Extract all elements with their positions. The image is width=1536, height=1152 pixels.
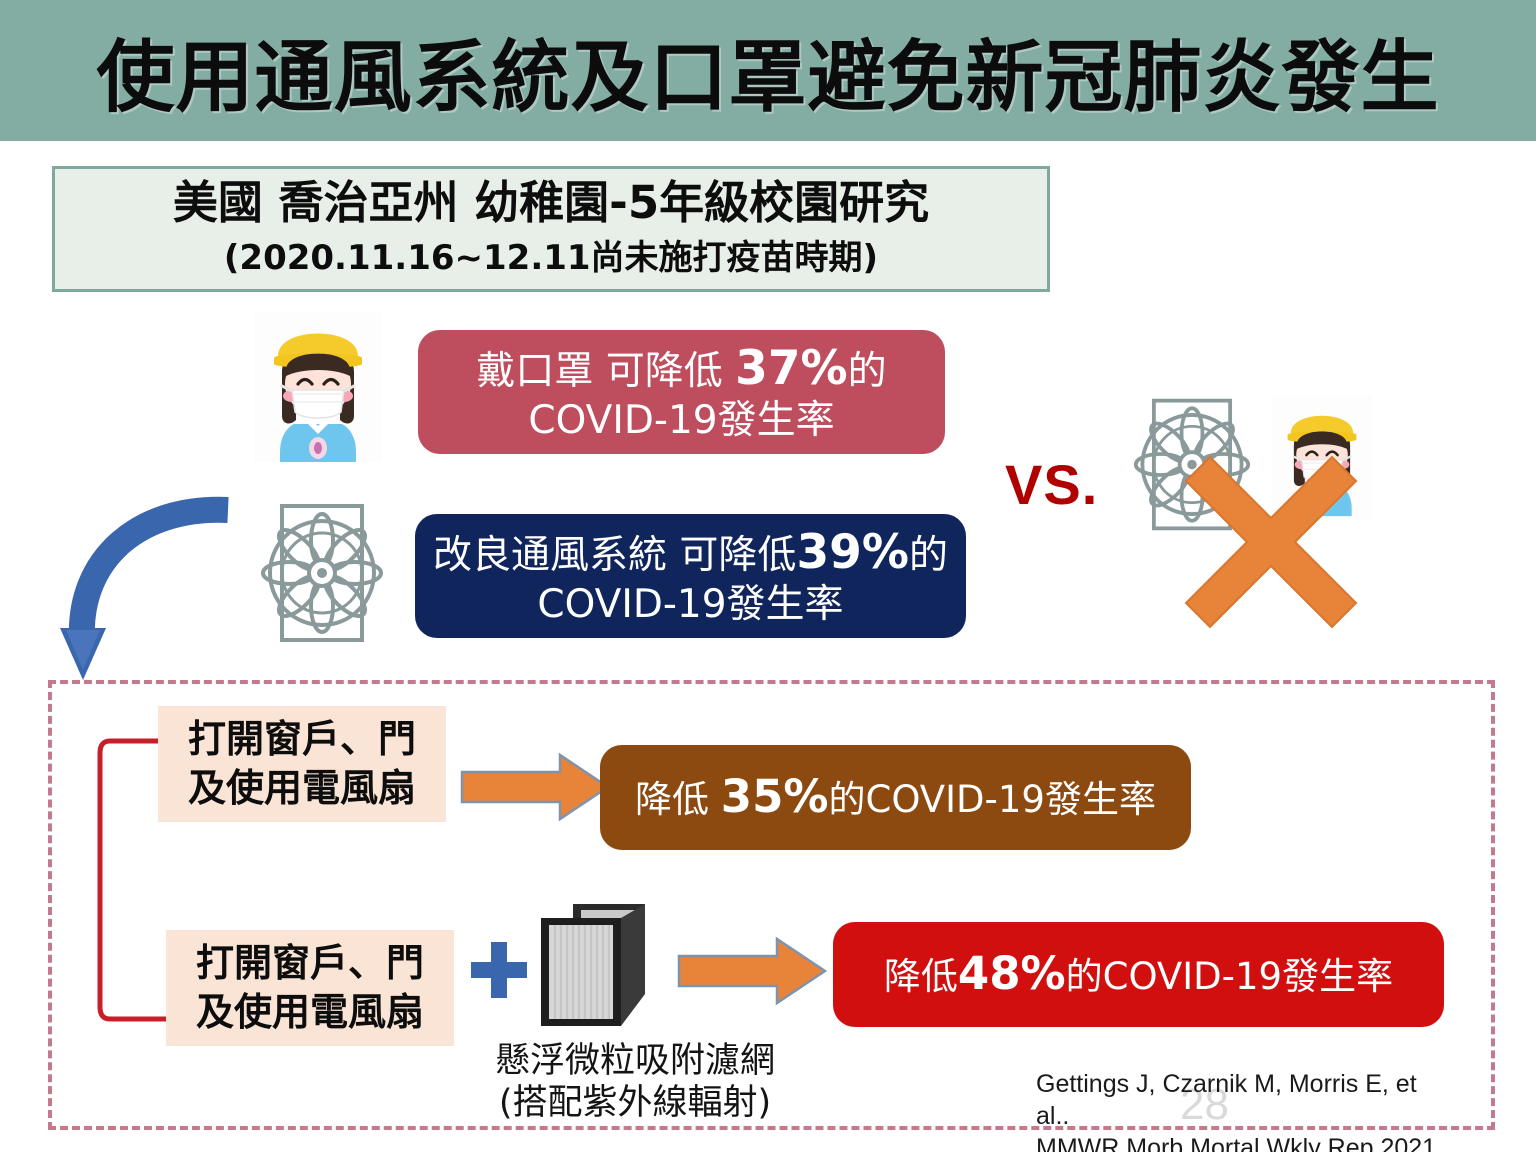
method-1-result-suffix: 的COVID-19發生率 bbox=[829, 778, 1156, 821]
method-2-result-suffix: 的COVID-19發生率 bbox=[1066, 955, 1393, 998]
vs-label: VS. bbox=[1005, 452, 1098, 517]
ventilation-statement-line2: COVID-19發生率 bbox=[537, 582, 843, 627]
masked-girl-icon bbox=[254, 312, 382, 462]
blue-curved-arrow-icon bbox=[60, 480, 300, 700]
mask-statement-prefix: 戴口罩 可降低 bbox=[476, 349, 735, 394]
filter-caption-line1: 懸浮微粒吸附濾網 bbox=[455, 1040, 815, 1082]
ventilation-statement-pill: 改良通風系統 可降低39%的 COVID-19發生率 bbox=[415, 514, 966, 638]
ventilation-statement-value: 39% bbox=[796, 525, 909, 580]
study-subtitle-main: 美國 喬治亞州 幼稚園-5年級校園研究 bbox=[173, 179, 929, 228]
filter-caption: 懸浮微粒吸附濾網 (搭配紫外線輻射) bbox=[455, 1040, 815, 1124]
mask-statement-pill: 戴口罩 可降低 37%的 COVID-19發生率 bbox=[418, 330, 945, 454]
method-2-result-value: 48% bbox=[958, 947, 1066, 1000]
mask-statement-suffix: 的 bbox=[848, 349, 887, 394]
page-title: 使用通風系統及口罩避免新冠肺炎發生 bbox=[0, 0, 1536, 141]
method-2-label-line1: 打開窗戶、門 bbox=[196, 939, 424, 988]
citation: Gettings J, Czarnik M, Morris E, et al..… bbox=[1036, 1068, 1456, 1152]
study-subtitle-box: 美國 喬治亞州 幼稚園-5年級校園研究 (2020.11.16~12.11尚未施… bbox=[52, 166, 1050, 292]
method-1-result-value: 35% bbox=[721, 770, 829, 823]
citation-line2: MMWR Morb Mortal Wkly Rep 2021 bbox=[1036, 1132, 1456, 1152]
ventilation-statement-prefix: 改良通風系統 可降低 bbox=[433, 533, 796, 578]
method-1-label-line1: 打開窗戶、門 bbox=[188, 715, 416, 764]
mask-statement-line2: COVID-19發生率 bbox=[528, 398, 834, 443]
citation-line1: Gettings J, Czarnik M, Morris E, et al.. bbox=[1036, 1068, 1456, 1132]
study-subtitle-period: (2020.11.16~12.11尚未施打疫苗時期) bbox=[224, 230, 878, 279]
ventilation-statement-suffix: 的 bbox=[909, 533, 948, 578]
method-1-label-box: 打開窗戶、門 及使用電風扇 bbox=[158, 706, 446, 822]
blue-plus-icon bbox=[469, 940, 529, 1000]
method-2-label-line2: 及使用電風扇 bbox=[196, 988, 424, 1037]
method-1-result-pill: 降低 35%的COVID-19發生率 bbox=[600, 745, 1191, 850]
method-2-result-pill: 降低48%的COVID-19發生率 bbox=[833, 922, 1444, 1027]
method-1-label-line2: 及使用電風扇 bbox=[188, 764, 416, 813]
orange-right-arrow-icon-2 bbox=[677, 936, 827, 1006]
hepa-filter-icon bbox=[535, 898, 660, 1033]
orange-cross-mark-icon bbox=[1176, 447, 1366, 637]
mask-statement-value: 37% bbox=[735, 341, 848, 396]
method-2-label-box: 打開窗戶、門 及使用電風扇 bbox=[166, 930, 454, 1046]
header-banner: 使用通風系統及口罩避免新冠肺炎發生 bbox=[0, 0, 1536, 141]
method-2-result-prefix: 降低 bbox=[884, 955, 958, 998]
orange-right-arrow-icon-1 bbox=[460, 752, 610, 822]
filter-caption-line2: (搭配紫外線輻射) bbox=[455, 1082, 815, 1124]
slide-root: 使用通風系統及口罩避免新冠肺炎發生 美國 喬治亞州 幼稚園-5年級校園研究 (2… bbox=[0, 0, 1536, 1152]
method-1-result-prefix: 降低 bbox=[635, 778, 721, 821]
